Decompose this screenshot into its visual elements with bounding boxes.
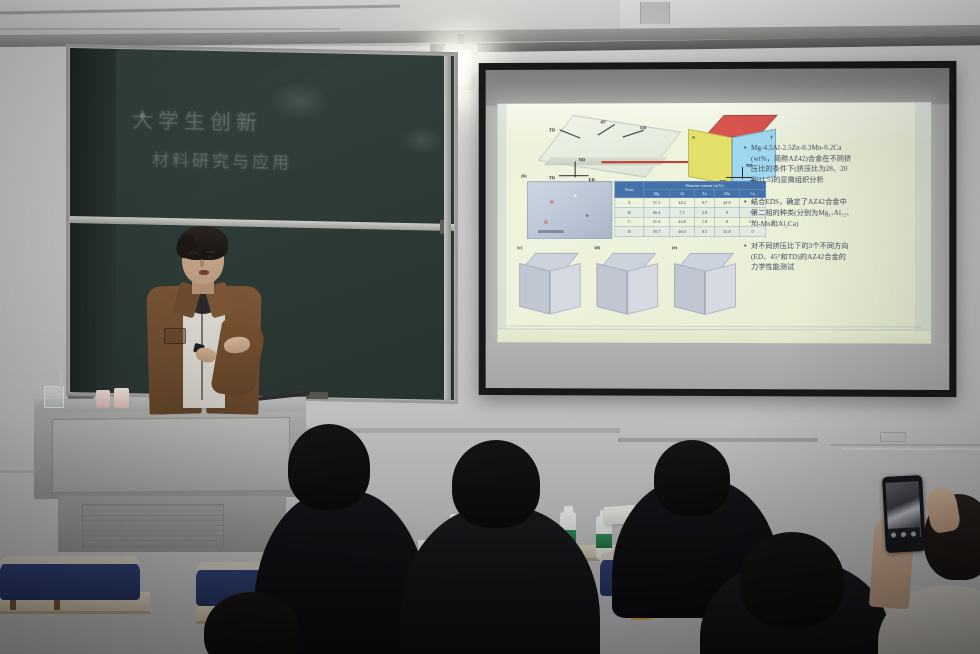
table-row: C 51.6 42.8 1.8 0 14.4	[615, 217, 766, 227]
chalk-text-line-1: 大学生创新	[132, 104, 262, 137]
cell-value: 7.1	[669, 207, 695, 217]
bullet-line: Mg-4.5Al-2.5Zn-0.3Mn-0.2Ca	[751, 143, 851, 154]
blackboard-rail	[70, 216, 454, 231]
blackboard: 大学生创新 材料研究与应用	[66, 44, 458, 404]
table-body: A 51.3 44.2 0.7 44.8 0 B 80.4 7.1 2.9	[615, 197, 766, 236]
microstructure-cube-1	[519, 253, 580, 323]
projection-screen: TD 45° ED ND TD ED N T ND ED TD	[479, 61, 957, 397]
bullet-line: 第二相的种类(分别为Mg₁₇Al₁₂、	[751, 208, 853, 219]
chalk-smudge	[270, 80, 330, 121]
slide-bullet-item: • Mg-4.5Al-2.5Zn-0.3Mn-0.2Ca (wt%，简称AZ42…	[744, 143, 921, 186]
cell-value: 0	[714, 207, 740, 217]
bullet-dot-icon: •	[744, 241, 751, 273]
bullet-line: (ED、45°和TD)的AZ42合金的	[751, 252, 849, 263]
cube-right-face	[705, 263, 736, 315]
cube-left-face	[674, 263, 705, 315]
classroom-chair[interactable]	[0, 560, 140, 600]
paper-cup	[96, 390, 110, 408]
microstructure-cube-3	[674, 253, 736, 323]
table-col-mn: Mn	[714, 189, 740, 197]
window-sill	[618, 438, 818, 442]
cube-left-face	[519, 263, 550, 315]
axis-rd-horizontal	[559, 175, 589, 176]
lectern-front-panel	[52, 417, 290, 493]
bullet-dot-icon: •	[744, 143, 751, 185]
cell-value: 0.7	[695, 198, 714, 208]
bullet-line: (wt%，简称AZ42)合金在不同挤	[751, 153, 851, 164]
presenter-eye-right	[207, 256, 213, 259]
cell-point: B	[615, 207, 644, 217]
presenter-nose	[200, 259, 204, 267]
microstructure-cube-2	[596, 253, 658, 323]
presenter-eyebrow-left	[189, 252, 198, 254]
sem-marker	[586, 214, 589, 217]
bullet-line: 对不同挤压比下的3个不同方向	[751, 241, 849, 252]
shutter-button-icon[interactable]	[891, 532, 896, 537]
cell-value: 0	[714, 217, 740, 227]
table-row-header: Point	[615, 182, 644, 198]
cell-value: 51.3	[644, 198, 670, 208]
audience-member-head	[288, 424, 370, 510]
paper-cup	[114, 388, 129, 408]
axis-label-ed: ED	[640, 125, 646, 130]
bullet-text-block: Mg-4.5Al-2.5Zn-0.3Mn-0.2Ca (wt%，简称AZ42)合…	[751, 143, 851, 186]
cell-point: C	[615, 217, 644, 227]
lectern-knob[interactable]	[140, 113, 145, 118]
bullet-line: Al-Mn和Al₂Ca)	[751, 219, 853, 230]
panel-label-e: (e)	[672, 245, 677, 250]
table-row: A 51.3 44.2 0.7 44.8 0	[615, 197, 766, 207]
presenter-eyebrow-right	[206, 251, 215, 253]
bullet-dot-icon: •	[744, 197, 751, 229]
axis-label-nd: ND	[579, 157, 585, 162]
table-col-al: Al	[669, 190, 695, 198]
projection-screen-surface: TD 45° ED ND TD ED N T ND ED TD	[486, 68, 950, 390]
bullet-text-block: 对不同挤压比下的3个不同方向 (ED、45°和TD)的AZ42合金的 力学性能测…	[751, 241, 849, 273]
ceiling-vent	[640, 2, 670, 24]
sem-micrograph	[527, 181, 612, 239]
bullet-line: 力学性能测试	[751, 262, 849, 273]
cube-right-face	[627, 263, 658, 315]
cell-point: D	[615, 227, 644, 237]
bullet-line: 压比的条件下(挤压比为28、20	[751, 164, 851, 175]
wall-poster-edge	[842, 448, 980, 450]
cube-label-td: T	[770, 135, 773, 140]
cube-right-face	[550, 263, 581, 314]
cell-point: A	[615, 198, 644, 208]
slide-bullet-list: • Mg-4.5Al-2.5Zn-0.3Mn-0.2Ca (wt%，简称AZ42…	[744, 143, 921, 286]
table-col-zn: Zn	[695, 190, 714, 198]
gallery-dot-icon[interactable]	[911, 531, 916, 536]
panel-label-d: (d)	[594, 245, 599, 250]
table-col-mg: Mg	[644, 190, 670, 198]
presenter-eye-left	[190, 257, 196, 260]
slide-divider	[507, 325, 921, 327]
cell-value: 44.2	[669, 198, 695, 208]
presenter-jacket-pocket	[164, 328, 186, 344]
panel-label-b: (b)	[521, 173, 526, 178]
cell-value: 80.4	[644, 207, 670, 217]
cell-value: 51.6	[644, 217, 670, 227]
cell-value: 42.8	[669, 217, 695, 227]
projected-slide: TD 45° ED ND TD ED N T ND ED TD	[497, 102, 931, 343]
axis-label-45: 45°	[600, 119, 606, 124]
slide-footer-bar	[497, 328, 931, 343]
chalk-smudge	[400, 125, 444, 156]
wall-trim-line	[0, 28, 340, 30]
panel-label-c: (c)	[517, 245, 522, 250]
lectern-vent	[82, 504, 224, 548]
sem-marker	[550, 200, 554, 204]
bullet-text-block: 结合EDS，确定了AZ42合金中 第二相的种类(分别为Mg₁₇Al₁₂、 Al-…	[751, 197, 853, 229]
audience-member-head	[654, 440, 730, 516]
screen-lower-blank	[486, 342, 950, 390]
presenter-mouth	[199, 270, 209, 275]
cell-value: 59.7	[644, 227, 670, 237]
cube-label-nd: N	[692, 135, 695, 140]
wall-trim	[830, 444, 980, 446]
sem-marker	[574, 194, 577, 197]
cell-value: 46.0	[669, 227, 695, 237]
bullet-line: 和11.5)的显微组织分析	[751, 175, 851, 186]
cell-value: 33.8	[714, 227, 740, 237]
chair-top-edge	[0, 556, 140, 564]
axis-label-td: TD	[549, 127, 555, 132]
slide-bullet-item: • 对不同挤压比下的3个不同方向 (ED、45°和TD)的AZ42合金的 力学性…	[744, 241, 921, 273]
sem-marker	[544, 220, 548, 224]
table-row: B 80.4 7.1 2.9 0 9.3	[615, 207, 766, 217]
axis-label-td2: TD	[549, 175, 555, 180]
bottle-label	[596, 534, 612, 548]
audience-member-head	[740, 532, 844, 628]
bullet-line: 结合EDS，确定了AZ42合金中	[751, 197, 853, 208]
slide-left-margin	[497, 104, 506, 343]
bottle-cap	[564, 506, 573, 514]
table-row: D 59.7 46.0 0.5 33.8 0	[615, 227, 766, 237]
cube-left-face	[596, 263, 627, 315]
sem-scale-bar	[538, 230, 564, 233]
cell-value: 44.8	[714, 197, 740, 207]
chalk-text-line-2: 材料研究与应用	[152, 146, 292, 174]
audience-member-head	[452, 440, 540, 528]
lectern-body	[34, 411, 306, 499]
wall-socket[interactable]	[880, 432, 906, 442]
blackboard-divider	[444, 56, 451, 400]
cell-value: 2.9	[695, 207, 714, 217]
mode-dot-icon[interactable]	[901, 532, 906, 537]
screen-top-strip	[486, 68, 950, 106]
classroom-scene: 大学生创新 材料研究与应用	[0, 0, 980, 654]
extrusion-direction-arrow	[601, 161, 701, 163]
slide-bullet-item: • 结合EDS，确定了AZ42合金中 第二相的种类(分别为Mg₁₇Al₁₂、 A…	[744, 197, 921, 229]
cell-value: 1.8	[695, 217, 714, 227]
smartphone-camera-controls[interactable]	[887, 527, 921, 541]
cell-value: 0.5	[695, 227, 714, 237]
